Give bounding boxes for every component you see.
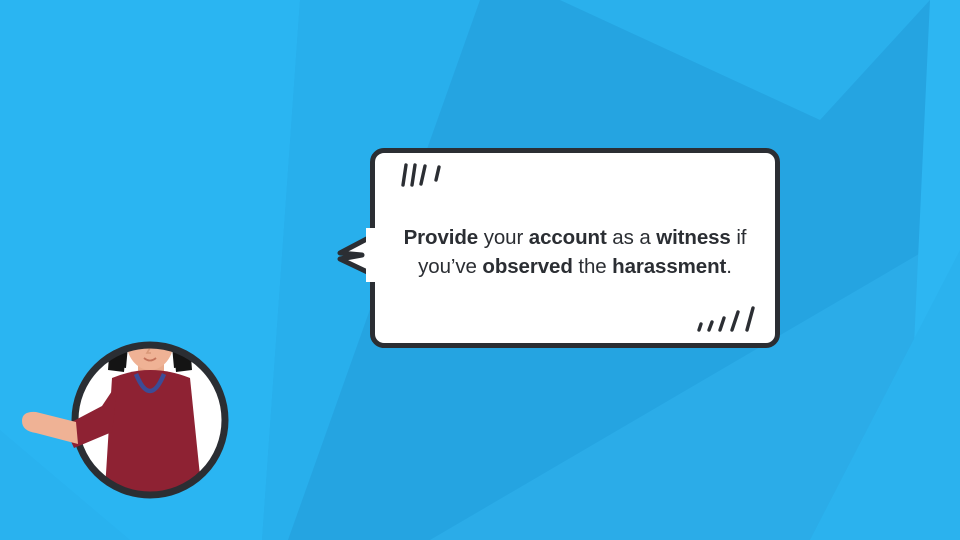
speech-bubble: Provide your account as a witness if you… [370,148,780,348]
text-run-as-a: as a [607,226,657,249]
text-run-the: the [573,255,612,278]
hair-strand [142,322,148,342]
text-run-harassment: harassment [612,255,726,278]
speech-bubble-tail [336,228,382,282]
text-run-provide: Provide [404,226,479,249]
text-run-youve: you’ve [418,255,482,278]
hair-bangs [124,306,176,340]
bubble-message-line-1: Provide your account as a witness if [397,223,753,252]
character-illustration [0,300,260,540]
text-run-observed: observed [482,255,572,278]
motion-ticks-bottom-right-icon [697,303,763,335]
text-run-period: . [726,255,732,278]
text-run-account: account [529,226,607,249]
extended-hand [22,412,78,444]
motion-ticks-top-left-icon [401,161,455,191]
text-run-your: your [478,226,529,249]
eye-left [137,338,141,342]
hair-crown [120,303,180,330]
eye-right [160,338,164,342]
bubble-message: Provide your account as a witness if you… [375,223,775,281]
bubble-message-line-2: you’ve observed the harassment. [397,252,753,281]
sweater-hem [104,498,203,505]
slide-canvas: Provide your account as a witness if you… [0,0,960,540]
text-run-if: if [731,226,747,249]
text-run-witness: witness [656,226,731,249]
